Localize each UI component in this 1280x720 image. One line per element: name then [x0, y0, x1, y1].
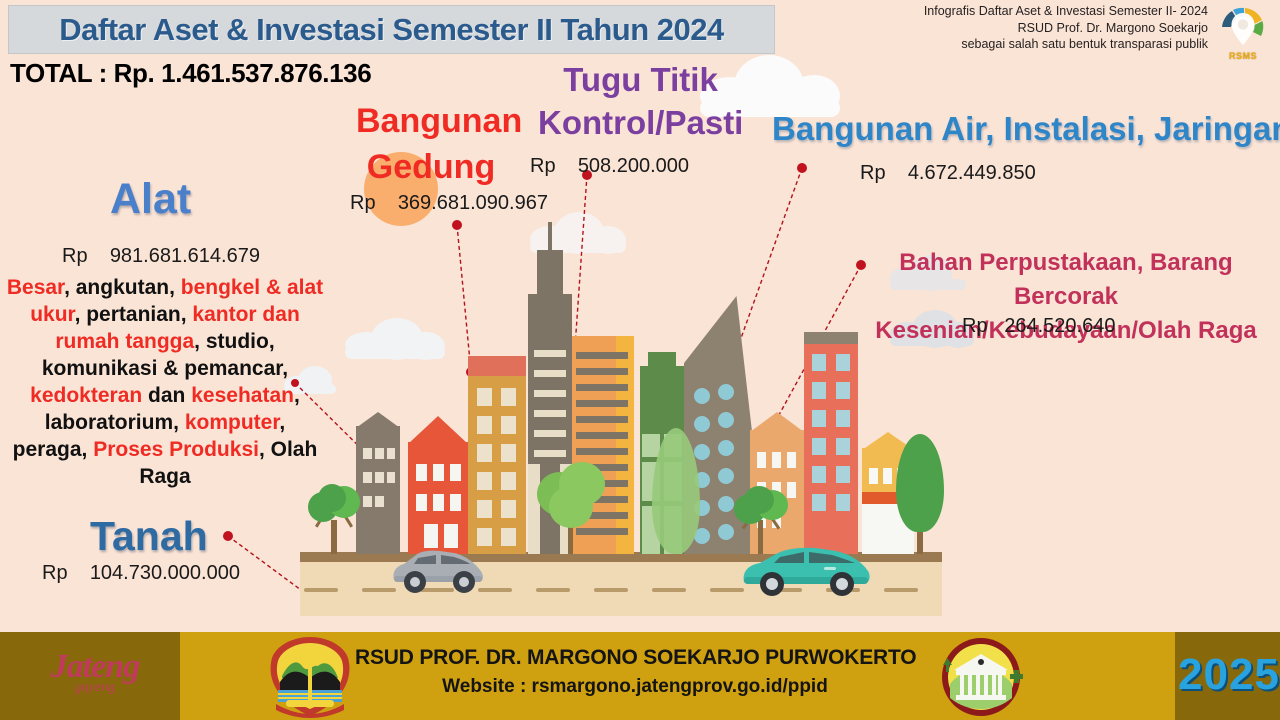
- category-label-bangunan-gedung: Bangunan Gedung: [356, 98, 506, 190]
- footer-bar: Jateng gayeng RSUD PROF. DR. MARGONO SOE…: [0, 632, 1280, 720]
- road-dash: [594, 588, 628, 592]
- footer-website[interactable]: Website : rsmargono.jatengprov.go.id/ppi…: [355, 676, 915, 698]
- building-red-house: [408, 442, 468, 554]
- alat-detail-highlight: kesehatan: [191, 384, 294, 407]
- value-alat: 981.681.614.679: [110, 245, 260, 267]
- category-amount-bahan-perpustakaan: Rp 264.520.640: [962, 315, 1115, 338]
- building-gray-left: [356, 426, 400, 554]
- footer-year: 2025: [1178, 650, 1274, 700]
- category-amount-tanah: Rp 104.730.000.000: [42, 562, 240, 585]
- alat-detail-plain: , pertanian,: [75, 303, 193, 326]
- caption-line-2: RSUD Prof. Dr. Margono Soekarjo: [858, 20, 1208, 37]
- road-dash: [652, 588, 686, 592]
- alat-detail-plain: , angkutan,: [64, 276, 181, 299]
- currency-bangunan-gedung: Rp: [350, 192, 376, 214]
- road-dash: [710, 588, 744, 592]
- jateng-gayeng-logo: Jateng gayeng: [20, 648, 170, 706]
- alat-detail-highlight: Besar: [7, 276, 64, 299]
- currency-alat: Rp: [62, 245, 88, 267]
- category-label-alat: Alat: [110, 178, 191, 221]
- page-title-bar: Daftar Aset & Investasi Semester II Tahu…: [8, 5, 775, 54]
- jawa-tengah-emblem: [258, 634, 362, 720]
- alat-detail-highlight: kedokteran: [30, 384, 142, 407]
- value-tanah: 104.730.000.000: [90, 562, 240, 584]
- road-dash: [304, 588, 338, 592]
- value-tugu-titik: 508.200.000: [578, 155, 689, 177]
- category-label-tanah: Tanah: [90, 516, 208, 557]
- building-salmon-tall: [804, 332, 858, 554]
- currency-tugu-titik: Rp: [530, 155, 556, 177]
- category-amount-alat: Rp 981.681.614.679: [62, 245, 260, 268]
- tree-far-right: [896, 434, 944, 554]
- alat-detail-highlight: Proses Produksi: [93, 438, 259, 461]
- currency-tanah: Rp: [42, 562, 68, 584]
- total-amount: TOTAL : Rp. 1.461.537.876.136: [10, 58, 371, 89]
- tree-left: [308, 480, 360, 554]
- currency-bahan-perpustakaan: Rp: [962, 315, 988, 337]
- tree-tall-green: [652, 424, 700, 554]
- road-dash: [884, 588, 918, 592]
- building-tan-tower: [468, 356, 526, 554]
- jateng-logo-line2: gayeng: [20, 680, 170, 696]
- page-title: Daftar Aset & Investasi Semester II Tahu…: [59, 12, 723, 48]
- car-gray: [388, 544, 488, 594]
- footer-org-text: RSUD PROF. DR. MARGONO SOEKARJO PURWOKER…: [355, 646, 915, 698]
- alat-detail-plain: dan: [142, 384, 191, 407]
- value-bangunan-air: 4.672.449.850: [908, 162, 1036, 184]
- rsms-hospital-emblem: [938, 636, 1024, 718]
- category-amount-bangunan-gedung: Rp 369.681.090.967: [350, 192, 548, 215]
- city-illustration: [300, 300, 942, 616]
- footer-org-name: RSUD PROF. DR. MARGONO SOEKARJO PURWOKER…: [355, 646, 915, 670]
- category-amount-bangunan-air: Rp 4.672.449.850: [860, 162, 1036, 185]
- category-label-tugu-titik: Tugu Titik Kontrol/Pasti: [538, 58, 743, 144]
- category-amount-tugu-titik: Rp 508.200.000: [530, 155, 689, 178]
- caption-line-3: sebagai salah satu bentuk transparasi pu…: [858, 36, 1208, 53]
- value-bangunan-gedung: 369.681.090.967: [398, 192, 548, 214]
- alat-detail-highlight: komputer: [185, 411, 280, 434]
- currency-bangunan-air: Rp: [860, 162, 886, 184]
- alat-detail-list: Besar, angkutan, bengkel & alat ukur, pe…: [6, 274, 324, 490]
- category-label-bangunan-air: Bangunan Air, Instalasi, Jaringan: [772, 112, 1280, 145]
- infographic-canvas: Daftar Aset & Investasi Semester II Tahu…: [0, 0, 1280, 720]
- rsms-logo-icon: [1214, 2, 1272, 54]
- value-bahan-perpustakaan: 264.520.640: [1004, 315, 1115, 337]
- rsms-logo-label: RSMS: [1214, 51, 1272, 61]
- location-pin-icon: [1232, 13, 1255, 45]
- car-teal: [740, 542, 872, 598]
- tree-center: [537, 452, 605, 554]
- header-caption: Infografis Daftar Aset & Investasi Semes…: [858, 3, 1208, 53]
- rsms-logo: RSMS: [1214, 2, 1272, 60]
- road-dash: [536, 588, 570, 592]
- caption-line-1: Infografis Daftar Aset & Investasi Semes…: [858, 3, 1208, 20]
